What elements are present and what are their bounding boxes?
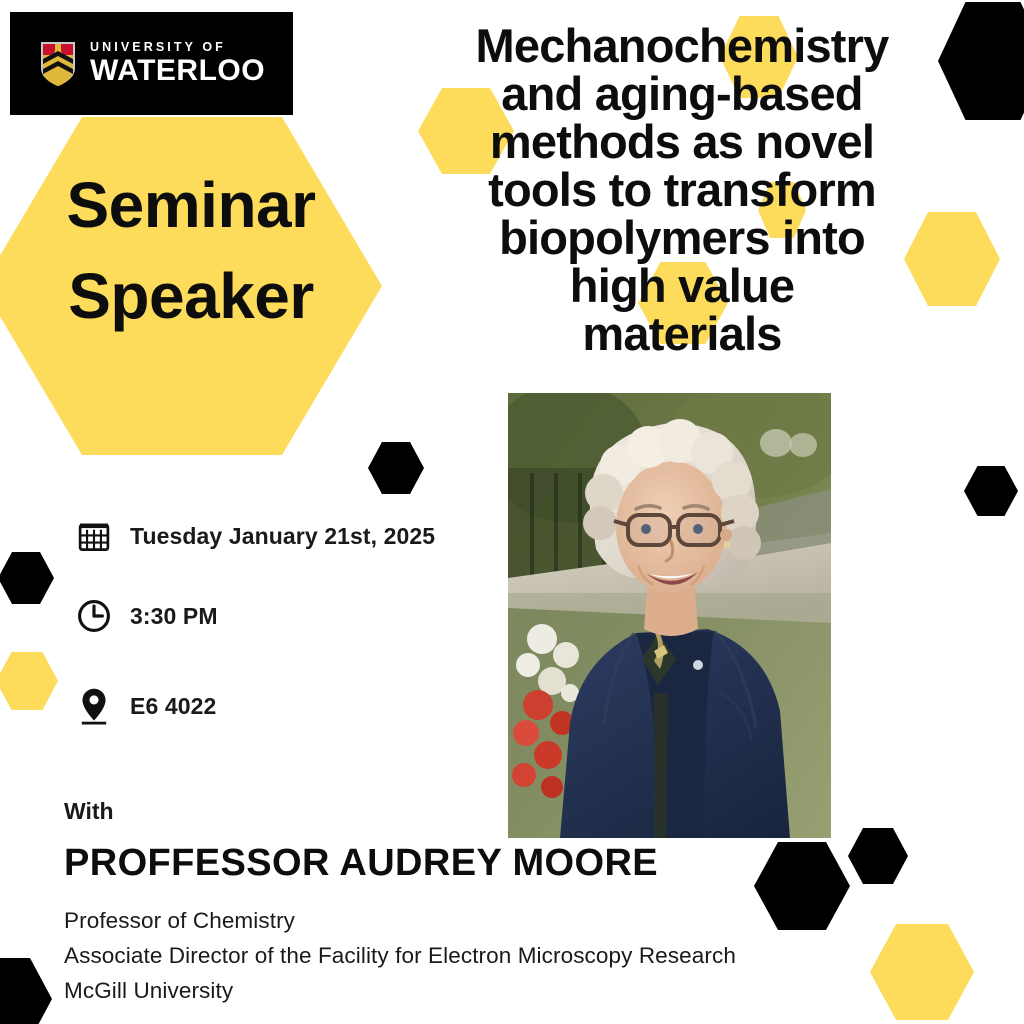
logo-line-2: WATERLOO bbox=[90, 56, 265, 86]
speaker-affiliation: Professor of Chemistry Associate Directo… bbox=[64, 903, 736, 1008]
page-title: Mechanochemistry and aging-based methods… bbox=[404, 22, 960, 358]
seminar-poster: UNIVERSITY OF WATERLOO Seminar Speaker M… bbox=[0, 0, 1024, 1024]
logo-line-1: UNIVERSITY OF bbox=[90, 41, 265, 54]
speaker-portrait-image bbox=[508, 393, 831, 838]
map-pin-icon bbox=[74, 686, 114, 726]
with-label: With bbox=[64, 798, 114, 825]
speaker-name: PROFFESSOR AUDREY MOORE bbox=[64, 842, 658, 885]
decor-hexagon-black-bottom-right-large bbox=[754, 842, 850, 930]
decor-hexagon-black-bottom-right-small bbox=[848, 828, 908, 884]
logo-wordmark: UNIVERSITY OF WATERLOO bbox=[90, 41, 265, 87]
decor-hexagon-yellow-bottom-right bbox=[870, 924, 974, 1020]
detail-row-time: 3:30 PM bbox=[74, 596, 218, 636]
decor-hexagon-black-left-upper bbox=[0, 552, 54, 604]
clock-icon bbox=[74, 596, 114, 636]
decor-hexagon-black-center-left bbox=[368, 442, 424, 494]
waterloo-shield-icon bbox=[40, 41, 76, 87]
speaker-photo bbox=[508, 393, 831, 838]
calendar-icon bbox=[74, 516, 114, 556]
decor-hexagon-yellow-left-lower bbox=[0, 652, 58, 710]
event-location: E6 4022 bbox=[130, 693, 216, 720]
seminar-speaker-label: Seminar Speaker bbox=[0, 160, 382, 342]
university-logo-bar: UNIVERSITY OF WATERLOO bbox=[10, 12, 293, 115]
detail-row-location: E6 4022 bbox=[74, 686, 216, 726]
decor-hexagon-black-bottom-left bbox=[0, 958, 52, 1024]
event-time: 3:30 PM bbox=[130, 603, 218, 630]
decor-hexagon-black-right-mid bbox=[964, 466, 1018, 516]
event-date: Tuesday January 21st, 2025 bbox=[130, 523, 435, 550]
detail-row-date: Tuesday January 21st, 2025 bbox=[74, 516, 435, 556]
